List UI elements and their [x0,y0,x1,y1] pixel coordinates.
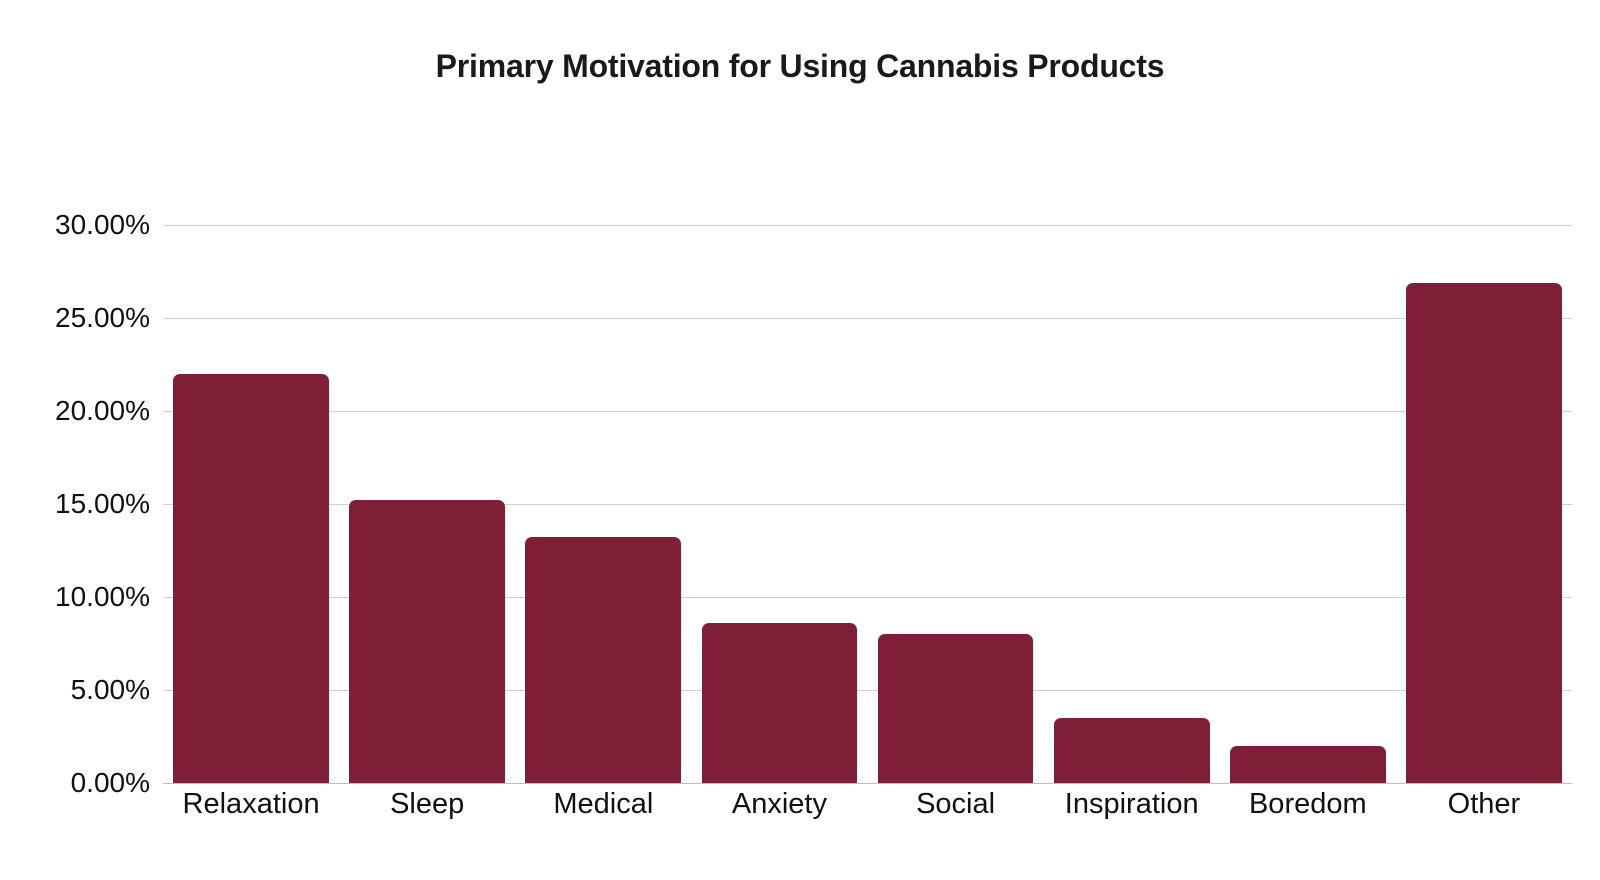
bar[interactable] [1230,746,1386,783]
bar[interactable] [525,537,681,783]
gridline-000 [163,783,1572,784]
x-tick-label: Boredom [1220,788,1396,821]
y-tick-label: 30.00% [0,209,150,241]
y-tick-label: 25.00% [0,302,150,334]
bar[interactable] [1406,283,1562,783]
y-tick-label: 5.00% [0,674,150,706]
bar[interactable] [878,634,1034,783]
bar[interactable] [349,500,505,783]
x-tick-label: Medical [515,788,691,821]
chart-title: Primary Motivation for Using Cannabis Pr… [0,48,1600,85]
y-axis: 0.00%5.00%10.00%15.00%20.00%25.00%30.00% [0,0,150,880]
x-tick-label: Anxiety [691,788,867,821]
y-tick-label: 10.00% [0,581,150,613]
x-tick-label: Relaxation [163,788,339,821]
bar[interactable] [1054,718,1210,783]
bars-group [163,225,1572,783]
x-axis: RelaxationSleepMedicalAnxietySocialInspi… [163,788,1572,848]
bar[interactable] [173,374,329,783]
bar-chart: Primary Motivation for Using Cannabis Pr… [0,0,1600,880]
x-tick-label: Sleep [339,788,515,821]
y-tick-label: 20.00% [0,395,150,427]
plot-area [163,225,1572,783]
x-tick-label: Other [1396,788,1572,821]
bar[interactable] [702,623,858,783]
y-tick-label: 15.00% [0,488,150,520]
x-tick-label: Social [868,788,1044,821]
y-tick-label: 0.00% [0,767,150,799]
x-tick-label: Inspiration [1044,788,1220,821]
